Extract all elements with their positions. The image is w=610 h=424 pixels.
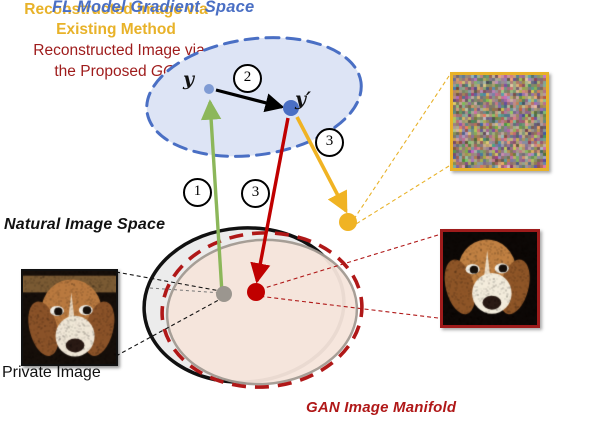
y-point-label: y	[183, 68, 194, 90]
step-badge-1: 1	[183, 178, 212, 207]
private-image-thumbnail	[21, 269, 118, 366]
node-y	[204, 84, 214, 94]
y-prime-point-label: y′	[295, 88, 311, 110]
ggl-reconstructed-image-thumbnail	[440, 229, 540, 328]
natural-image-space-title: Natural Image Space	[4, 216, 165, 234]
diagram-canvas: FL Model Gradient Space Natural Image Sp…	[0, 0, 610, 424]
step-badge-2: 2	[233, 64, 262, 93]
existing-method-image-thumbnail	[450, 72, 549, 171]
step-badge-3-existing: 3	[315, 128, 344, 157]
node-existing-reconstruction	[339, 213, 357, 231]
step-badge-3-ggl: 3	[241, 179, 270, 208]
private-image-caption: Private Image	[2, 364, 101, 382]
node-ggl-reconstruction	[247, 283, 265, 301]
existing-image-leader-lines	[352, 76, 449, 224]
gan-image-manifold-title: GAN Image Manifold	[306, 399, 456, 416]
fl-gradient-space-title: FL Model Gradient Space	[52, 0, 254, 17]
node-private-image	[216, 286, 232, 302]
